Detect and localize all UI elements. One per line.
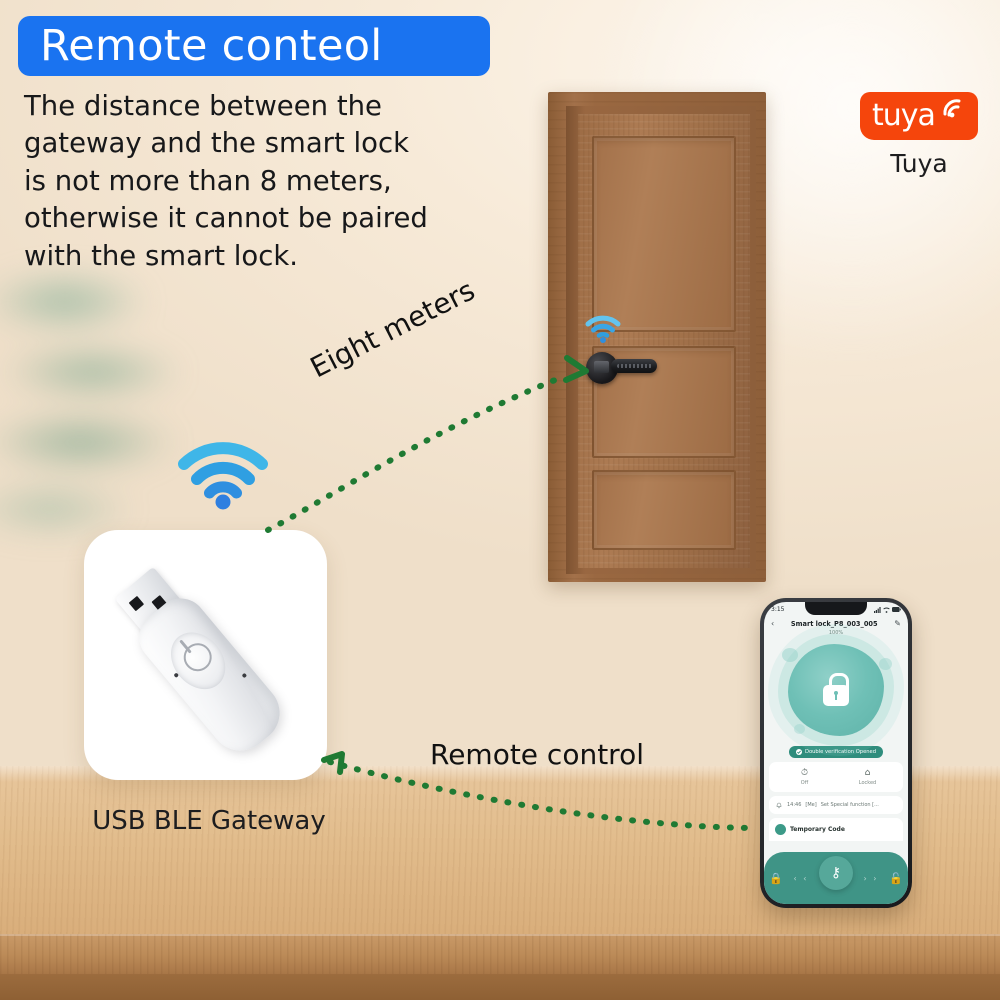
control-bell-label: Off xyxy=(773,780,836,786)
tuya-brand: tuya Tuya xyxy=(855,92,983,178)
temporary-code-row[interactable]: Temporary Code xyxy=(769,818,903,841)
tuya-label: Tuya xyxy=(855,149,983,178)
double-verification-text: Double verification Opened xyxy=(805,749,876,755)
description-line-5: with the smart lock. xyxy=(24,238,494,275)
edit-icon[interactable]: ✎ xyxy=(894,619,901,628)
battery-icon xyxy=(892,607,901,612)
wifi-icon-gateway xyxy=(178,438,268,510)
gateway-caption: USB BLE Gateway xyxy=(84,806,334,836)
table-edge xyxy=(0,934,1000,974)
table-front-shadow xyxy=(0,974,1000,1000)
wifi-icon-door xyxy=(585,313,621,343)
description-line-3: is not more than 8 meters, xyxy=(24,163,494,200)
tab-dots-right: › › xyxy=(864,874,879,883)
log-time: 14:46 xyxy=(787,802,801,808)
wifi-icon-status xyxy=(883,607,890,613)
bell-outline-icon xyxy=(775,801,783,809)
description-line-2: gateway and the smart lock xyxy=(24,125,494,162)
blob-accent-3 xyxy=(794,724,805,734)
usb-led-2 xyxy=(242,673,248,679)
padlock-body xyxy=(823,685,849,706)
door-panel-top xyxy=(592,136,736,332)
usb-gateway-card xyxy=(84,530,327,780)
control-bell[interactable]: ⏱ Off xyxy=(773,768,836,786)
power-symbol-icon xyxy=(160,622,237,700)
door-frame xyxy=(548,92,766,582)
door-illustration xyxy=(548,92,766,582)
page-title: Remote conteol xyxy=(40,25,383,68)
phone-tab-bar: 🔒 ‹ ‹ ⚷ › › 🔓 xyxy=(764,852,908,904)
bell-icon: ⏱ xyxy=(773,768,836,778)
check-icon xyxy=(796,749,802,755)
usb-body xyxy=(129,588,292,763)
blob-accent-2 xyxy=(879,658,892,670)
double-verification-badge: Double verification Opened xyxy=(789,746,883,758)
infographic-canvas: Remote conteol The distance between the … xyxy=(0,0,1000,1000)
lock-hero xyxy=(764,636,908,744)
key-icon: ⚷ xyxy=(831,865,841,881)
phone-screen: 3:15 ‹ xyxy=(764,602,908,904)
tuya-wifi-icon xyxy=(942,98,968,120)
description-line-1: The distance between the xyxy=(24,88,494,125)
lock-open-icon[interactable]: 🔓 xyxy=(889,872,903,885)
tuya-logo-badge: tuya xyxy=(860,92,978,140)
activity-log-row[interactable]: 14:46 [Me] Set Special function [... xyxy=(769,796,903,814)
smart-lock-handle-icon xyxy=(586,358,656,378)
status-icons xyxy=(874,607,901,613)
blob-accent-1 xyxy=(782,648,798,662)
key-button[interactable]: ⚷ xyxy=(819,856,853,890)
grid-icon xyxy=(775,824,786,835)
label-remote-control: Remote control xyxy=(430,738,644,771)
phone-nav-bar: ‹ Smart lock_P8_003_005 ✎ xyxy=(764,617,908,629)
lock-closed-icon[interactable]: 🔒 xyxy=(769,872,783,885)
phone-notch xyxy=(805,602,867,615)
lock-icon: ⌂ xyxy=(836,768,899,778)
control-card: ⏱ Off ⌂ Locked xyxy=(769,762,903,792)
smartphone-mockup: 3:15 ‹ xyxy=(760,598,912,908)
log-text: Set Special function [... xyxy=(821,802,879,808)
signal-icon xyxy=(874,607,881,613)
back-icon[interactable]: ‹ xyxy=(771,619,774,628)
control-lock-label: Locked xyxy=(836,780,899,786)
status-time: 3:15 xyxy=(771,606,784,613)
device-title: Smart lock_P8_003_005 xyxy=(791,620,878,628)
control-lock[interactable]: ⌂ Locked xyxy=(836,768,899,786)
padlock-icon[interactable] xyxy=(822,673,850,707)
tab-dots-left: ‹ ‹ xyxy=(794,874,809,883)
title-banner: Remote conteol xyxy=(18,16,490,76)
usb-contact-1 xyxy=(129,596,144,611)
log-user: [Me] xyxy=(805,802,816,808)
usb-dongle-icon xyxy=(84,530,327,780)
lock-lever xyxy=(611,359,657,373)
temporary-code-label: Temporary Code xyxy=(790,826,845,833)
tuya-logo-text: tuya xyxy=(872,99,935,133)
door-panel-bottom xyxy=(592,470,736,550)
description-text: The distance between the gateway and the… xyxy=(24,88,494,275)
description-line-4: otherwise it cannot be paired xyxy=(24,200,494,237)
